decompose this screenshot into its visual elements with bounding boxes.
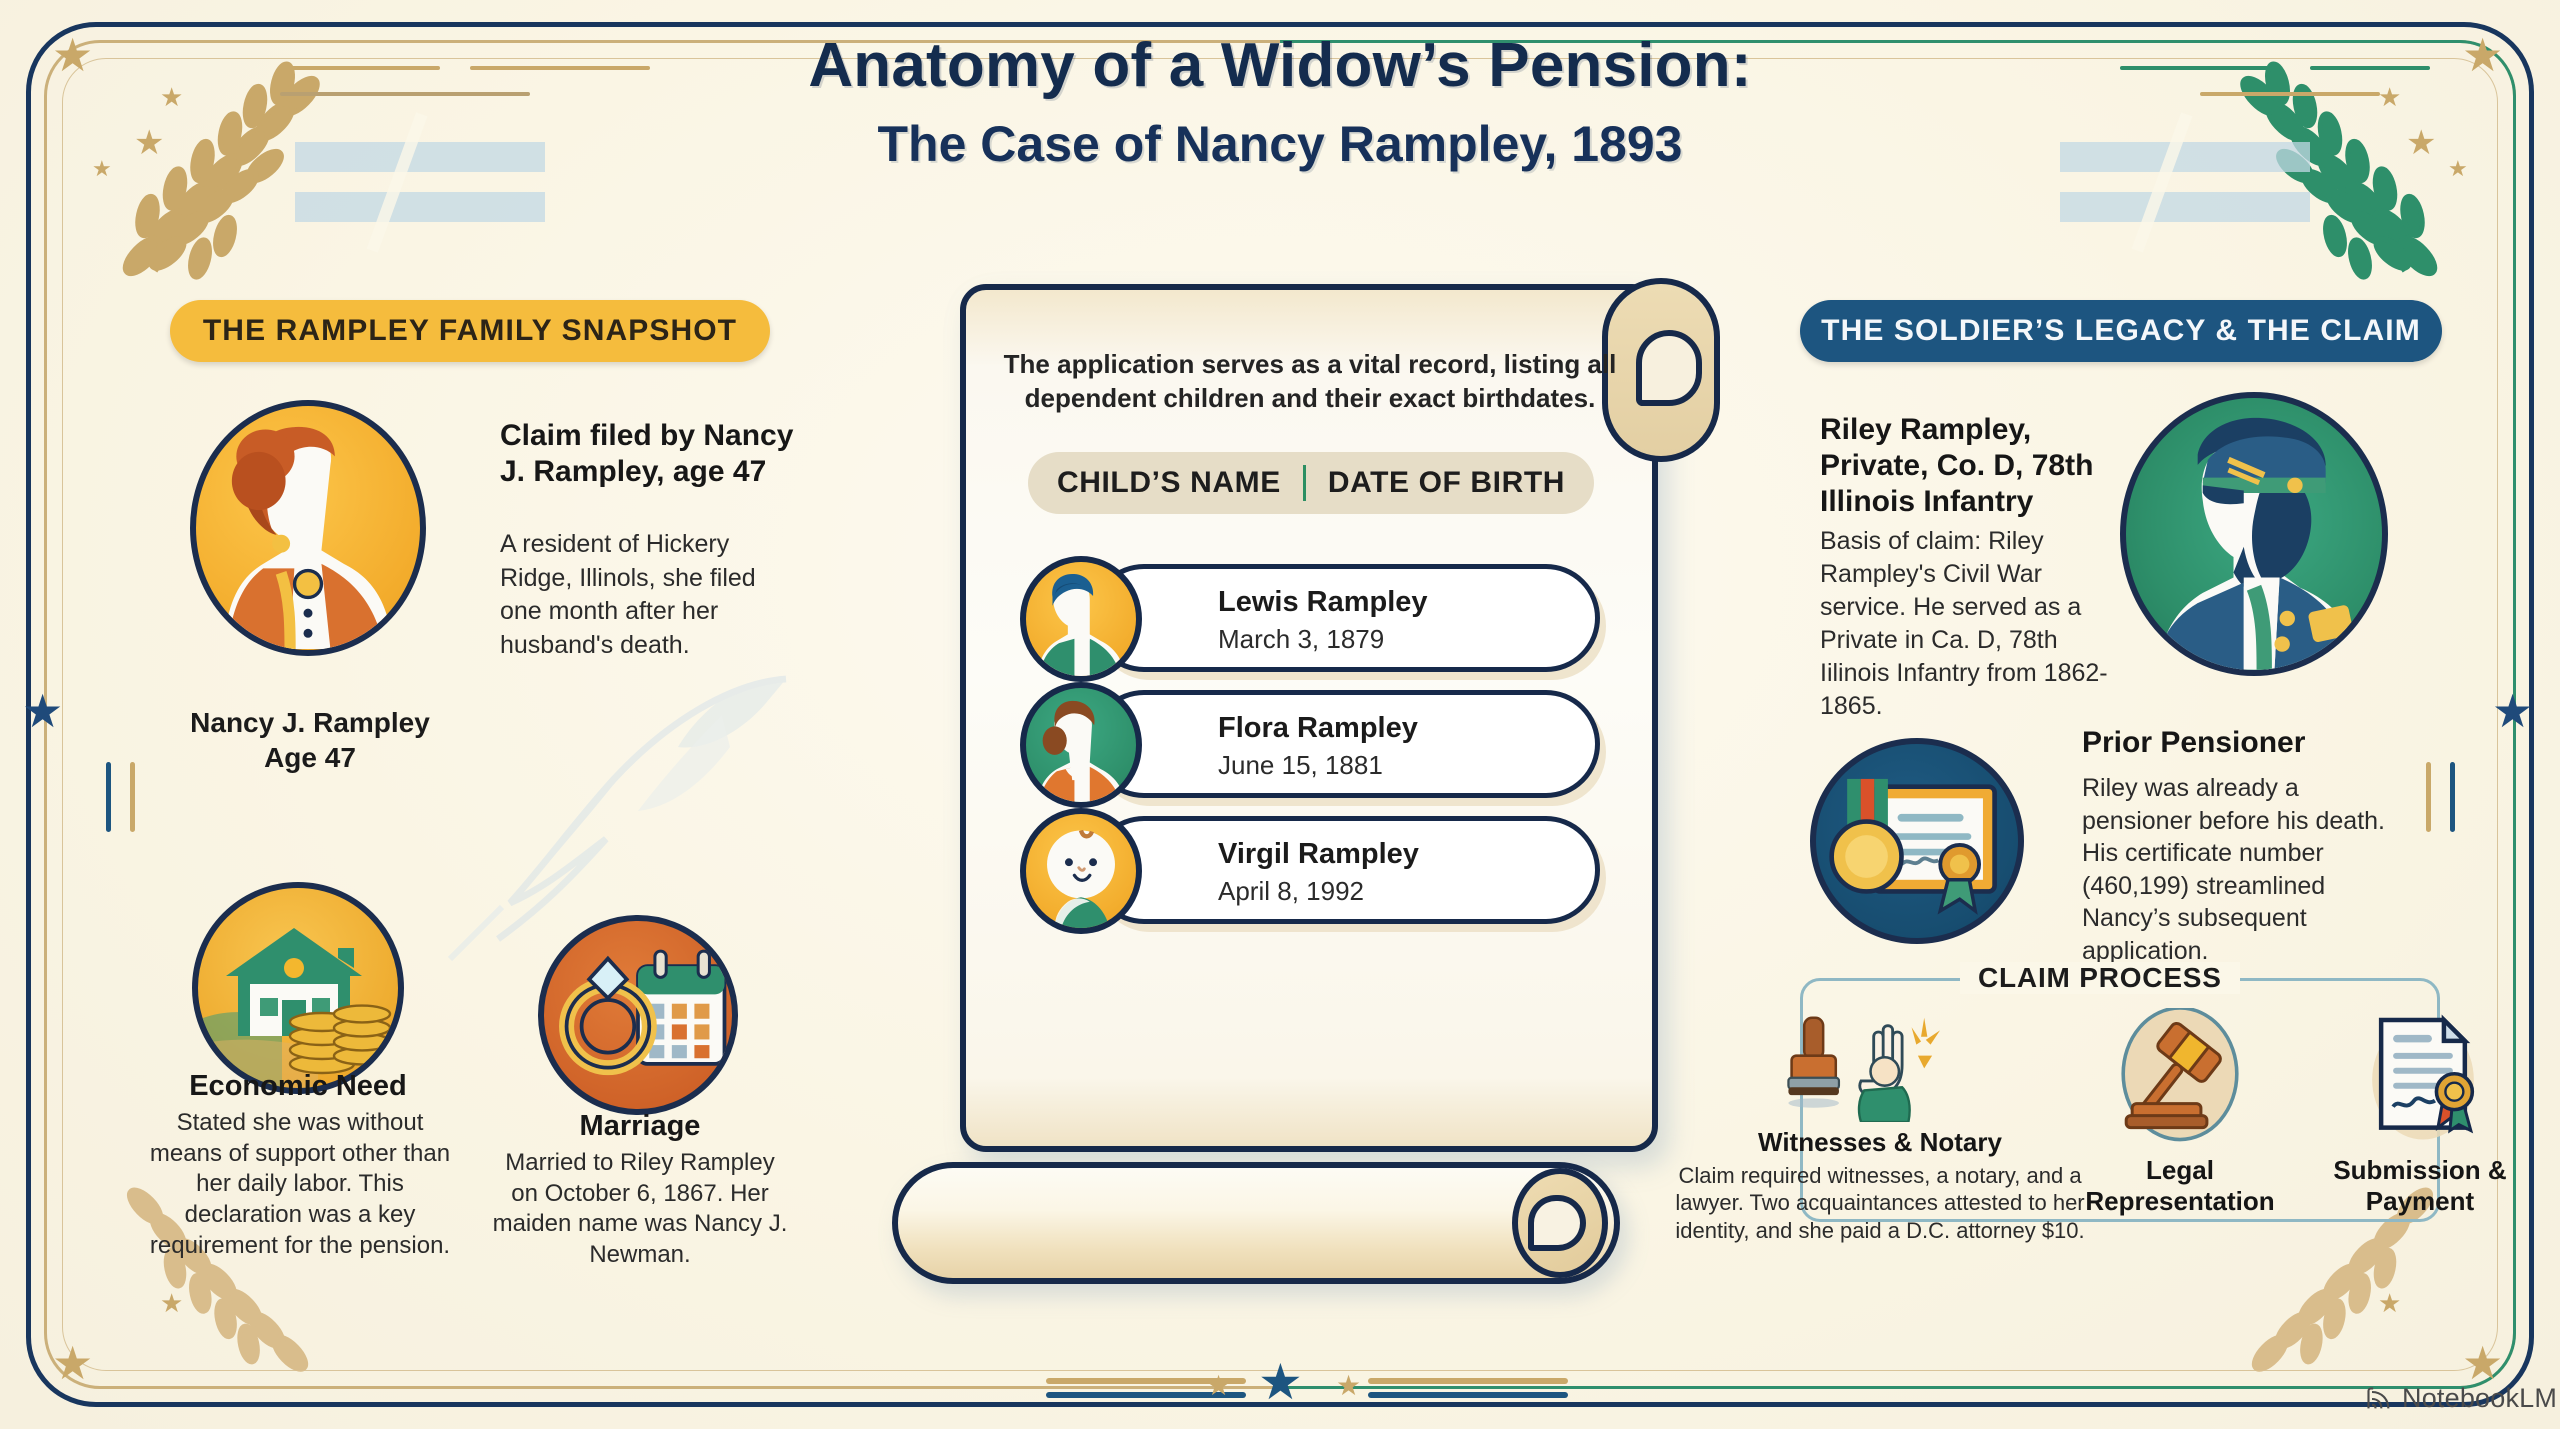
claim-filed-body: A resident of Hickery Ridge, Illinols, s… [500, 528, 790, 662]
corner-star-cluster-bl-a: ★ [160, 1290, 183, 1316]
section-header-soldier-legacy: THE SOLDIER’S LEGACY & THE CLAIM [1800, 300, 2442, 362]
card-body-marriage: Married to Riley Rampley on October 6, 1… [490, 1148, 790, 1271]
child-name: Lewis Rampley [1218, 586, 1428, 619]
star-ornament-icon: ★ [1258, 1357, 1303, 1407]
scroll-bottom-roll-cap-inner [1528, 1195, 1586, 1251]
column-header-child-name: CHILD’S NAME [1057, 466, 1281, 500]
claim-filed-heading: Claim filed by Nancy J. Rampley, age 47 [500, 418, 800, 490]
corner-star-cluster-br-a: ★ [2378, 1290, 2401, 1316]
child-dob: April 8, 1992 [1218, 876, 1364, 907]
child-dob: March 3, 1879 [1218, 624, 1384, 655]
claim-process-label: CLAIM PROCESS [1960, 962, 2240, 994]
footer-rule-right-navy [1368, 1392, 1568, 1398]
edge-star-left: ★ [22, 688, 63, 734]
ring-and-calendar-icon [538, 915, 738, 1115]
column-header-date-of-birth: DATE OF BIRTH [1328, 466, 1565, 500]
brand-credit: NotebookLM [2365, 1383, 2557, 1414]
scroll-bottom-roll [892, 1162, 1620, 1284]
brand-name: NotebookLM [2402, 1383, 2557, 1414]
table-row[interactable]: Lewis Rampley March 3, 1879 [1030, 564, 1600, 672]
medal-certificate-icon [1810, 738, 2024, 944]
ornament-rule-right-vert-a [2450, 762, 2455, 832]
claim-process-step-title: Legal Representation [2050, 1155, 2310, 1216]
section-header-family-snapshot: THE RAMPLEY FAMILY SNAPSHOT [170, 300, 770, 362]
baby-avatar-icon [1020, 808, 1142, 934]
prior-pensioner-body: Riley was already a pensioner before his… [2082, 772, 2412, 967]
infographic-canvas: ★ ★ ★ ★ ★ ★ ★ ★ ★ ★ ★ ★ ★ ★ [0, 0, 2560, 1429]
notebooklm-spiral-icon [2365, 1385, 2393, 1413]
table-row[interactable]: Virgil Rampley April 8, 1992 [1030, 816, 1600, 924]
claim-process-step-body: Claim required witnesses, a notary, and … [1670, 1162, 2090, 1245]
girl-avatar-icon [1020, 682, 1142, 808]
star-ornament-icon: ★ [1206, 1372, 1231, 1400]
boy-avatar-icon [1020, 556, 1142, 682]
sealed-document-icon [2345, 1008, 2495, 1150]
woman-portrait-icon [190, 400, 426, 656]
section-header-family-snapshot-label: THE RAMPLEY FAMILY SNAPSHOT [203, 314, 737, 348]
page-title: Anatomy of a Widow’s Pension: [0, 30, 2560, 101]
corner-star-bottom-right: ★ [2462, 1340, 2503, 1386]
claim-process-step-title: Submission & Payment [2290, 1155, 2550, 1216]
prior-pensioner-heading: Prior Pensioner [2082, 726, 2442, 760]
stamp-and-raised-hand-icon [1785, 1002, 1975, 1122]
portrait-caption: Nancy J. Rampley Age 47 [150, 705, 470, 776]
card-title-marriage: Marriage [500, 1110, 780, 1143]
scroll-intro-text: The application serves as a vital record… [990, 348, 1630, 416]
section-header-soldier-legacy-label: THE SOLDIER’S LEGACY & THE CLAIM [1821, 314, 2421, 348]
child-name: Virgil Rampley [1218, 838, 1419, 871]
ornament-rule-right-vert-b [2426, 762, 2431, 832]
card-title-economic-need: Economic Need [140, 1070, 456, 1103]
claim-process-step-witnesses: Witnesses & Notary Claim required witnes… [1670, 1002, 2090, 1244]
house-and-coins-icon [192, 882, 404, 1094]
page-subtitle: The Case of Nancy Rampley, 1893 [0, 115, 2560, 173]
claim-process-step-title: Witnesses & Notary [1670, 1127, 2090, 1158]
soldier-body: Basis of claim: Riley Rampley's Civil Wa… [1820, 525, 2110, 723]
gavel-icon [2105, 1008, 2255, 1150]
column-divider [1303, 465, 1306, 501]
footer-rule-right-gold [1368, 1378, 1568, 1384]
child-name: Flora Rampley [1218, 712, 1418, 745]
corner-star-bottom-left: ★ [52, 1340, 93, 1386]
star-ornament-icon: ★ [1336, 1372, 1361, 1400]
claim-process-step-submission: Submission & Payment [2290, 1008, 2550, 1220]
edge-star-right: ★ [2492, 688, 2533, 734]
child-dob: June 15, 1881 [1218, 750, 1383, 781]
scroll-curl-top-right-inner [1636, 330, 1702, 406]
children-table-header: CHILD’S NAME DATE OF BIRTH [1028, 452, 1594, 514]
union-soldier-portrait-icon [2120, 392, 2388, 676]
table-row[interactable]: Flora Rampley June 15, 1881 [1030, 690, 1600, 798]
soldier-heading: Riley Rampley, Private, Co. D, 78th Illi… [1820, 412, 2120, 520]
ornament-rule-left-vert-a [106, 762, 111, 832]
title-block: Anatomy of a Widow’s Pension: The Case o… [0, 30, 2560, 173]
claim-process-step-legal: Legal Representation [2050, 1008, 2310, 1220]
card-body-economic-need: Stated she was without means of support … [140, 1108, 460, 1262]
ornament-rule-left-vert-b [130, 762, 135, 832]
